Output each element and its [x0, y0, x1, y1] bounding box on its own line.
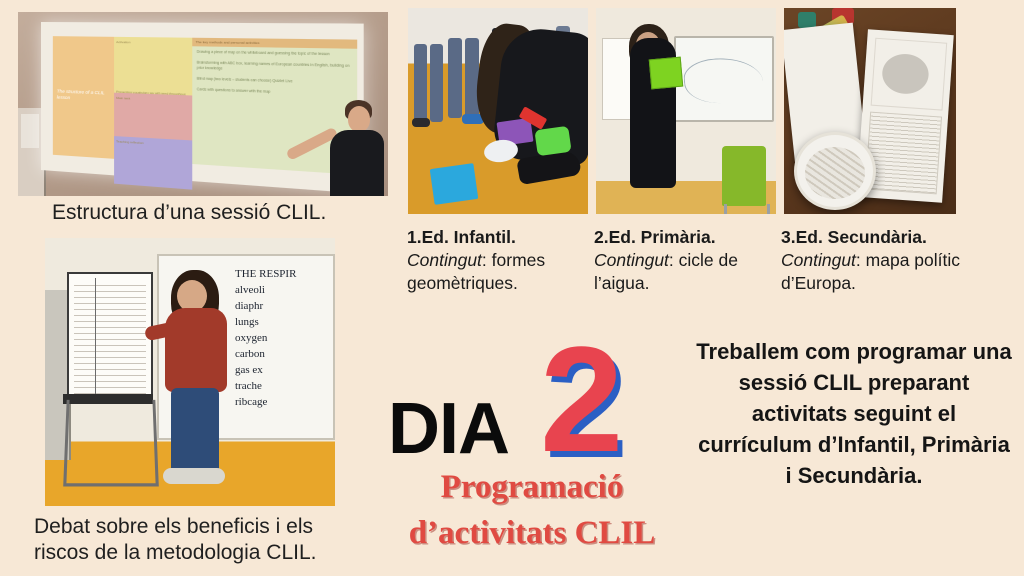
- slide-stage-1: Activation: [114, 37, 192, 90]
- slide-stage-4: Teaching reflection: [114, 136, 192, 190]
- standing-leg: [430, 44, 443, 122]
- slide-title-column: The structure of a CLIL lesson: [53, 36, 114, 159]
- flipchart-easel-pad: [67, 272, 153, 402]
- presenter-figure: [314, 86, 384, 196]
- caption-primaria-title: 2.Ed. Primària.: [594, 226, 774, 249]
- caption-infantil-separator: :: [482, 250, 492, 270]
- caption-slide-photo: Estructura d’una sessió CLIL.: [52, 200, 326, 226]
- whiteboard-presenter-scene: [596, 8, 776, 214]
- presenter-head: [348, 106, 370, 132]
- poster-canvas: The structure of a CLIL lesson Activatio…: [0, 0, 1024, 576]
- whiteboard-presenter-photo: [596, 8, 776, 214]
- caption-infantil: 1.Ed. Infantil. Contingut: formes geomèt…: [407, 226, 587, 295]
- slide-stage-column: Activation Presenting vocabulary we will…: [114, 37, 192, 164]
- debate-photo: THE RESPIR alveoli diaphr lungs oxygen c…: [45, 238, 335, 506]
- presenter-body: [330, 130, 384, 196]
- student-body: [165, 308, 227, 392]
- green-card: [649, 57, 683, 90]
- slide-content: The structure of a CLIL lesson Activatio…: [53, 36, 357, 175]
- desk-scene: [784, 8, 956, 214]
- caption-secundaria: 3.Ed. Secundària. Contingut: mapa políti…: [781, 226, 971, 295]
- flipchart-writing: [74, 280, 146, 394]
- student-legs: [171, 388, 219, 472]
- caption-secundaria-label: Contingut: [781, 250, 856, 270]
- caption-infantil-label: Contingut: [407, 250, 482, 270]
- easel-legs: [63, 400, 159, 487]
- caption-infantil-title: 1.Ed. Infantil.: [407, 226, 587, 249]
- europe-map-image: [871, 38, 948, 111]
- shoe: [412, 118, 430, 127]
- day-number: 2: [540, 324, 623, 474]
- standing-leg: [414, 44, 427, 122]
- flipchart-divider: [95, 278, 96, 396]
- country-name-list: [865, 112, 942, 195]
- green-chair: [722, 146, 766, 206]
- europe-map-desk-photo: [784, 8, 956, 214]
- day-subtitle: Programació d’activitats CLIL: [382, 464, 682, 556]
- standing-leg: [448, 38, 462, 118]
- debate-scene: THE RESPIR alveoli diaphr lungs oxygen c…: [45, 238, 335, 506]
- activity-card-blue: [430, 163, 479, 205]
- day-subtitle-line1: Programació: [382, 464, 682, 510]
- caption-debate-photo: Debat sobre els beneficis i els riscos d…: [34, 514, 364, 566]
- student-shoes: [163, 468, 225, 484]
- floor-activity-photo: [408, 8, 588, 214]
- caption-primaria-separator: :: [669, 250, 679, 270]
- activity-card-green: [534, 126, 571, 156]
- caption-primaria-label: Contingut: [594, 250, 669, 270]
- whiteboard-drawing: [683, 55, 765, 105]
- slide-title-text: The structure of a CLIL lesson: [57, 89, 112, 103]
- caption-secundaria-separator: :: [856, 250, 866, 270]
- whiteboard: [674, 36, 774, 122]
- scissors: [798, 12, 816, 28]
- slide-stage-3: Main task: [114, 93, 192, 140]
- paper-slips-bowl: [794, 132, 876, 210]
- whiteboard-notes: THE RESPIR alveoli diaphr lungs oxygen c…: [235, 266, 327, 410]
- caption-primaria: 2.Ed. Primària. Contingut: cicle de l’ai…: [594, 226, 774, 295]
- activity-plate: [483, 138, 520, 165]
- day-word: DIA: [388, 388, 509, 470]
- day-badge: DIA 2 Programació d’activitats CLIL: [388, 336, 688, 566]
- day-subtitle-line2: d’activitats CLIL: [382, 510, 682, 556]
- floor-activity-scene: [408, 8, 588, 214]
- caption-secundaria-title: 3.Ed. Secundària.: [781, 226, 971, 249]
- session-blurb: Treballem com programar una sessió CLIL …: [694, 336, 1014, 491]
- projected-slide-photo: The structure of a CLIL lesson Activatio…: [18, 12, 388, 196]
